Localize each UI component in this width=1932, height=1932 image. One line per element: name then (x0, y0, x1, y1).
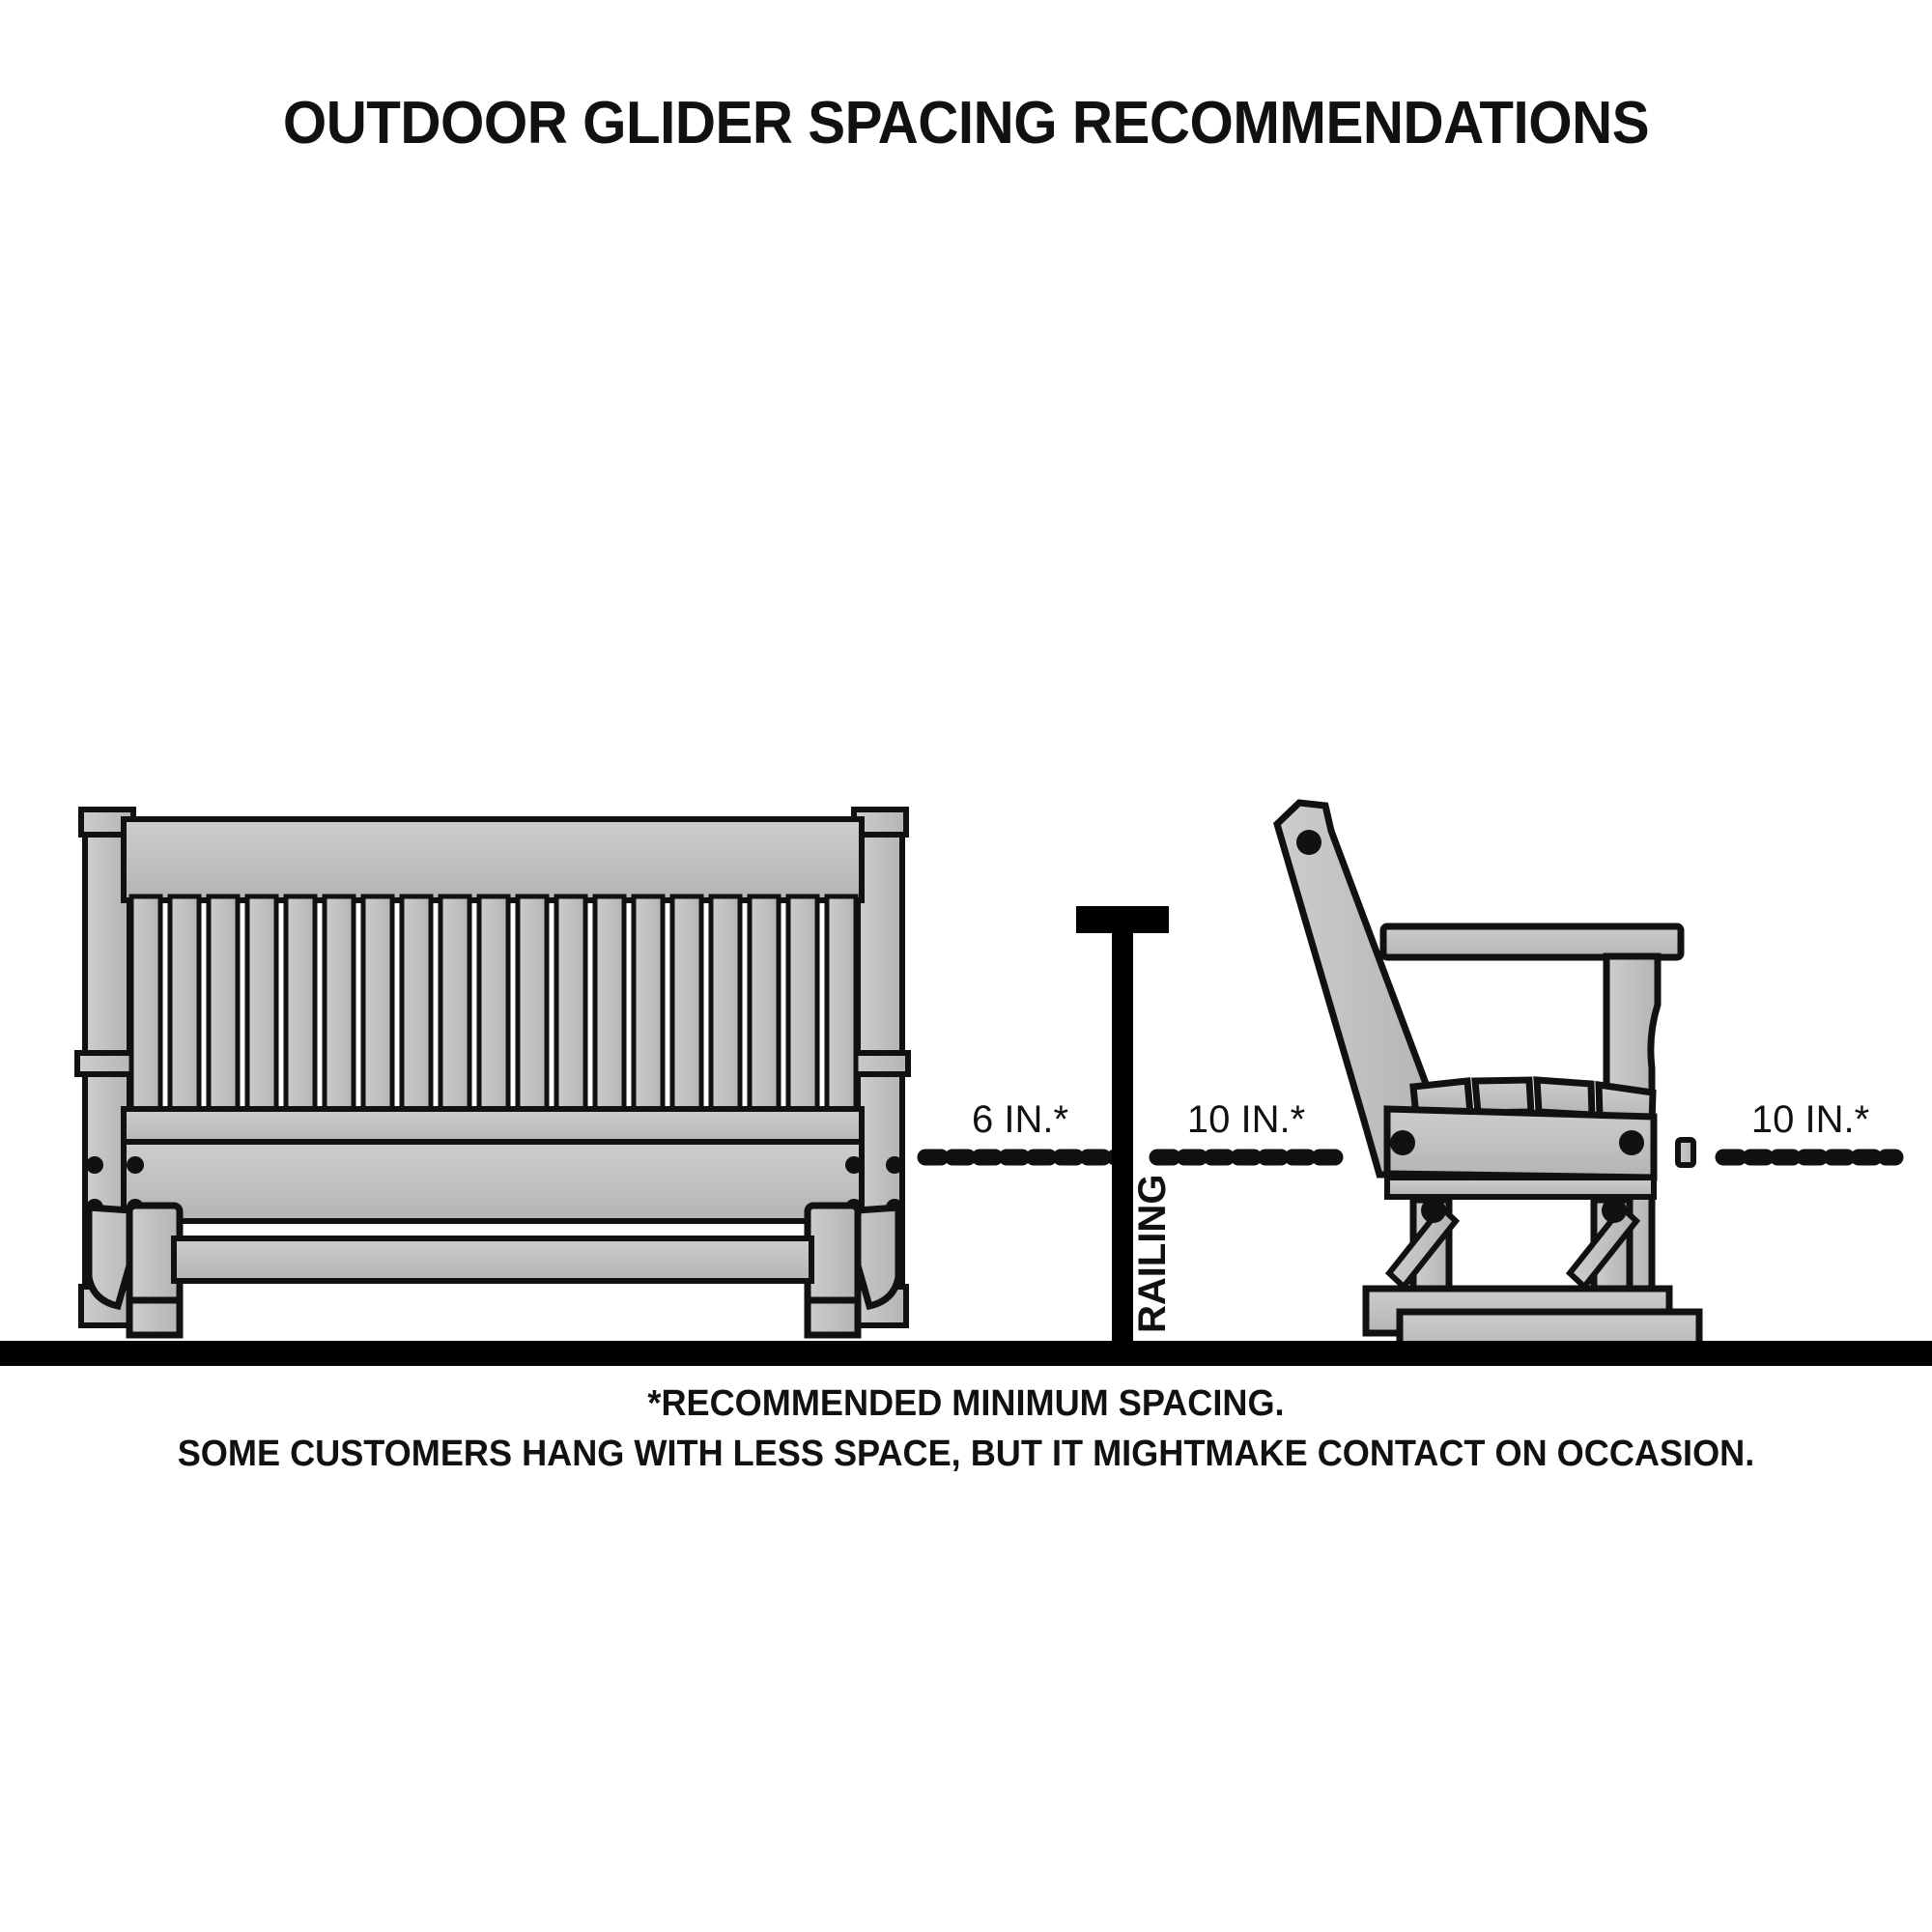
glider-spacing-diagram: 6 IN.* 10 IN.* 10 IN.* RAILING (0, 0, 1932, 1932)
railing-post (1112, 927, 1133, 1352)
railing-label: RAILING (1131, 1175, 1174, 1333)
back-view-top-rail (124, 819, 862, 900)
back-view-apron (124, 1142, 862, 1221)
back-view-slats (131, 896, 856, 1117)
side-view-back-bolt (1296, 830, 1321, 855)
measure-label-10in-right: 10 IN.* (1751, 1098, 1869, 1141)
footnote-line-2: SOME CUSTOMERS HANG WITH LESS SPACE, BUT… (48, 1434, 1884, 1475)
side-view-seat-bolt-left (1390, 1130, 1415, 1155)
footnote-line-1: *RECOMMENDED MINIMUM SPACING. (48, 1383, 1884, 1425)
side-view-armrest (1383, 926, 1681, 957)
glider-back-view (77, 810, 908, 1335)
side-view-lower-rail (1387, 1178, 1654, 1197)
back-view-base-stretcher (174, 1238, 811, 1281)
measure-label-6in: 6 IN.* (972, 1098, 1068, 1141)
side-view-glider-mechanism (1389, 1198, 1636, 1293)
side-view-arm-peg (1678, 1140, 1693, 1165)
diagram-page: OUTDOOR GLIDER SPACING RECOMMENDATIONS (0, 0, 1932, 1932)
side-view-seat-bolt-right (1619, 1130, 1644, 1155)
glider-side-view (1277, 803, 1699, 1352)
ground-line (0, 1341, 1932, 1366)
measure-label-10in-left: 10 IN.* (1187, 1098, 1305, 1141)
side-view-seat-rail (1387, 1109, 1654, 1178)
